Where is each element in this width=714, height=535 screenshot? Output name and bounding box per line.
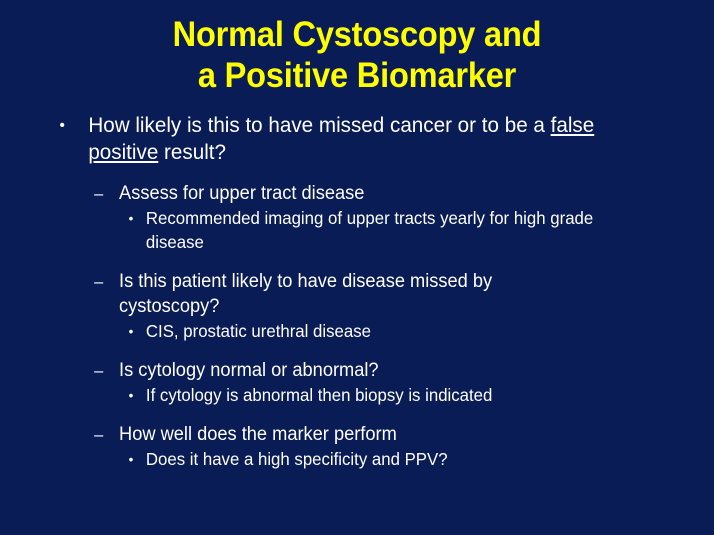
bullet-disease-missed: – Is this patient likely to have disease… [0,269,685,319]
bullet-cytology-biopsy-text: If cytology is abnormal then biopsy is i… [146,383,609,407]
bullet-marker-dash: – [94,269,103,294]
slide-title-line-1: Normal Cystoscopy and [25,14,689,55]
bullet-marker-dash: – [94,358,103,383]
bullet-assess-upper-tract-text: Assess for upper tract disease [119,181,593,206]
bullet-cytology-normal: – Is cytology normal or abnormal? [0,358,685,383]
bullet-how-likely: • How likely is this to have missed canc… [0,112,685,166]
underlined-word-false: false [551,113,595,137]
bullet-marker-perform-text: How well does the marker perform [119,422,593,447]
slide-title: Normal Cystoscopy and a Positive Biomark… [25,14,689,96]
presentation-slide: Normal Cystoscopy and a Positive Biomark… [0,0,714,535]
bullet-how-likely-text: How likely is this to have missed cancer… [88,112,601,166]
bullet-assess-upper-tract: – Assess for upper tract disease [0,181,685,206]
bullet-disease-missed-text: Is this patient likely to have disease m… [119,269,593,319]
bullet-marker-dot: • [129,319,134,343]
text-segment-after: result? [158,140,226,164]
bullet-specificity-ppv-text: Does it have a high specificity and PPV? [146,447,609,471]
bullet-cis-prostatic-text: CIS, prostatic urethral disease [146,319,609,343]
underlined-word-positive: positive [88,140,158,164]
bullet-cytology-normal-text: Is cytology normal or abnormal? [119,358,593,383]
bullet-marker-dot: • [129,447,134,471]
bullet-specificity-ppv: • Does it have a high specificity and PP… [0,447,685,471]
bullet-recommended-imaging-text: Recommended imaging of upper tracts year… [146,206,609,254]
bullet-cytology-biopsy: • If cytology is abnormal then biopsy is… [0,383,685,407]
bullet-recommended-imaging: • Recommended imaging of upper tracts ye… [0,206,685,254]
text-segment-before: How likely is this to have missed cancer… [88,113,550,137]
bullet-marker-perform: – How well does the marker perform [0,422,685,447]
bullet-marker-dot: • [129,206,134,230]
bullet-marker-dot: • [129,383,134,407]
bullet-cis-prostatic: • CIS, prostatic urethral disease [0,319,685,343]
bullet-marker-dot: • [60,112,65,139]
bullet-marker-dash: – [94,181,103,206]
bullet-marker-dash: – [94,422,103,447]
slide-title-line-2: a Positive Biomarker [25,55,689,96]
slide-body: • How likely is this to have missed canc… [0,112,714,471]
